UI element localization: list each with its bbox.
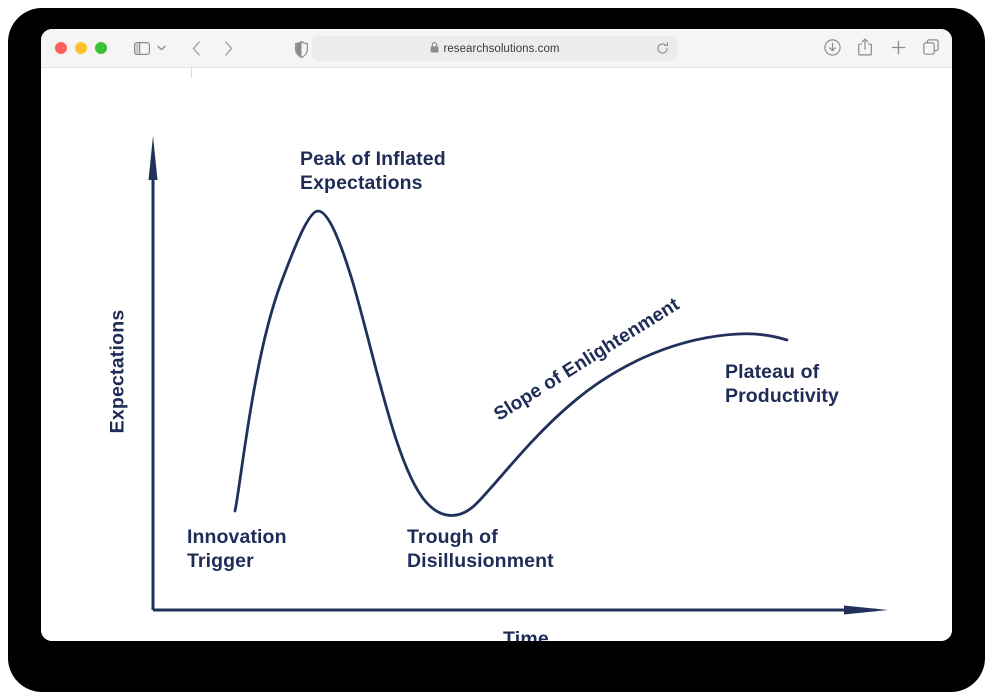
reload-icon[interactable] — [654, 40, 671, 57]
lock-icon — [430, 40, 439, 58]
page-content: Expectations Time Peak of Inflated Expec… — [41, 68, 952, 641]
url-text: researchsolutions.com — [443, 43, 559, 55]
share-icon[interactable] — [854, 35, 876, 59]
downloads-icon[interactable] — [821, 35, 843, 59]
maximize-window-button[interactable] — [95, 42, 107, 54]
back-button[interactable] — [183, 35, 209, 61]
url-display: researchsolutions.com — [430, 40, 559, 58]
address-bar[interactable]: researchsolutions.com — [312, 36, 678, 61]
hype-curve — [235, 211, 787, 516]
sidebar-toggle-icon[interactable] — [129, 35, 155, 61]
annotation-innovation-trigger: Innovation Trigger — [187, 526, 287, 574]
chevron-down-icon[interactable] — [153, 35, 169, 61]
screenshot-root: researchsolutions.com — [0, 0, 993, 700]
hype-cycle-chart: Expectations Time Peak of Inflated Expec… — [41, 68, 952, 641]
tab-overview-icon[interactable] — [920, 35, 942, 59]
annotation-trough-of-disillusionment: Trough of Disillusionment — [407, 526, 554, 574]
privacy-shield-icon[interactable] — [288, 36, 314, 62]
new-tab-icon[interactable] — [887, 35, 909, 59]
annotation-peak-of-inflated-expectations: Peak of Inflated Expectations — [300, 148, 446, 196]
minimize-window-button[interactable] — [75, 42, 87, 54]
window-controls — [55, 42, 107, 54]
browser-window: researchsolutions.com — [41, 29, 952, 641]
toolbar-left-group — [107, 35, 241, 61]
close-window-button[interactable] — [55, 42, 67, 54]
y-axis — [149, 136, 158, 610]
x-axis-label: Time — [461, 628, 591, 641]
browser-toolbar: researchsolutions.com — [41, 29, 952, 68]
forward-button[interactable] — [215, 35, 241, 61]
toolbar-right-group — [821, 35, 942, 59]
annotation-plateau-of-productivity: Plateau of Productivity — [725, 361, 839, 409]
x-axis — [153, 606, 888, 615]
y-axis-label: Expectations — [107, 287, 130, 457]
